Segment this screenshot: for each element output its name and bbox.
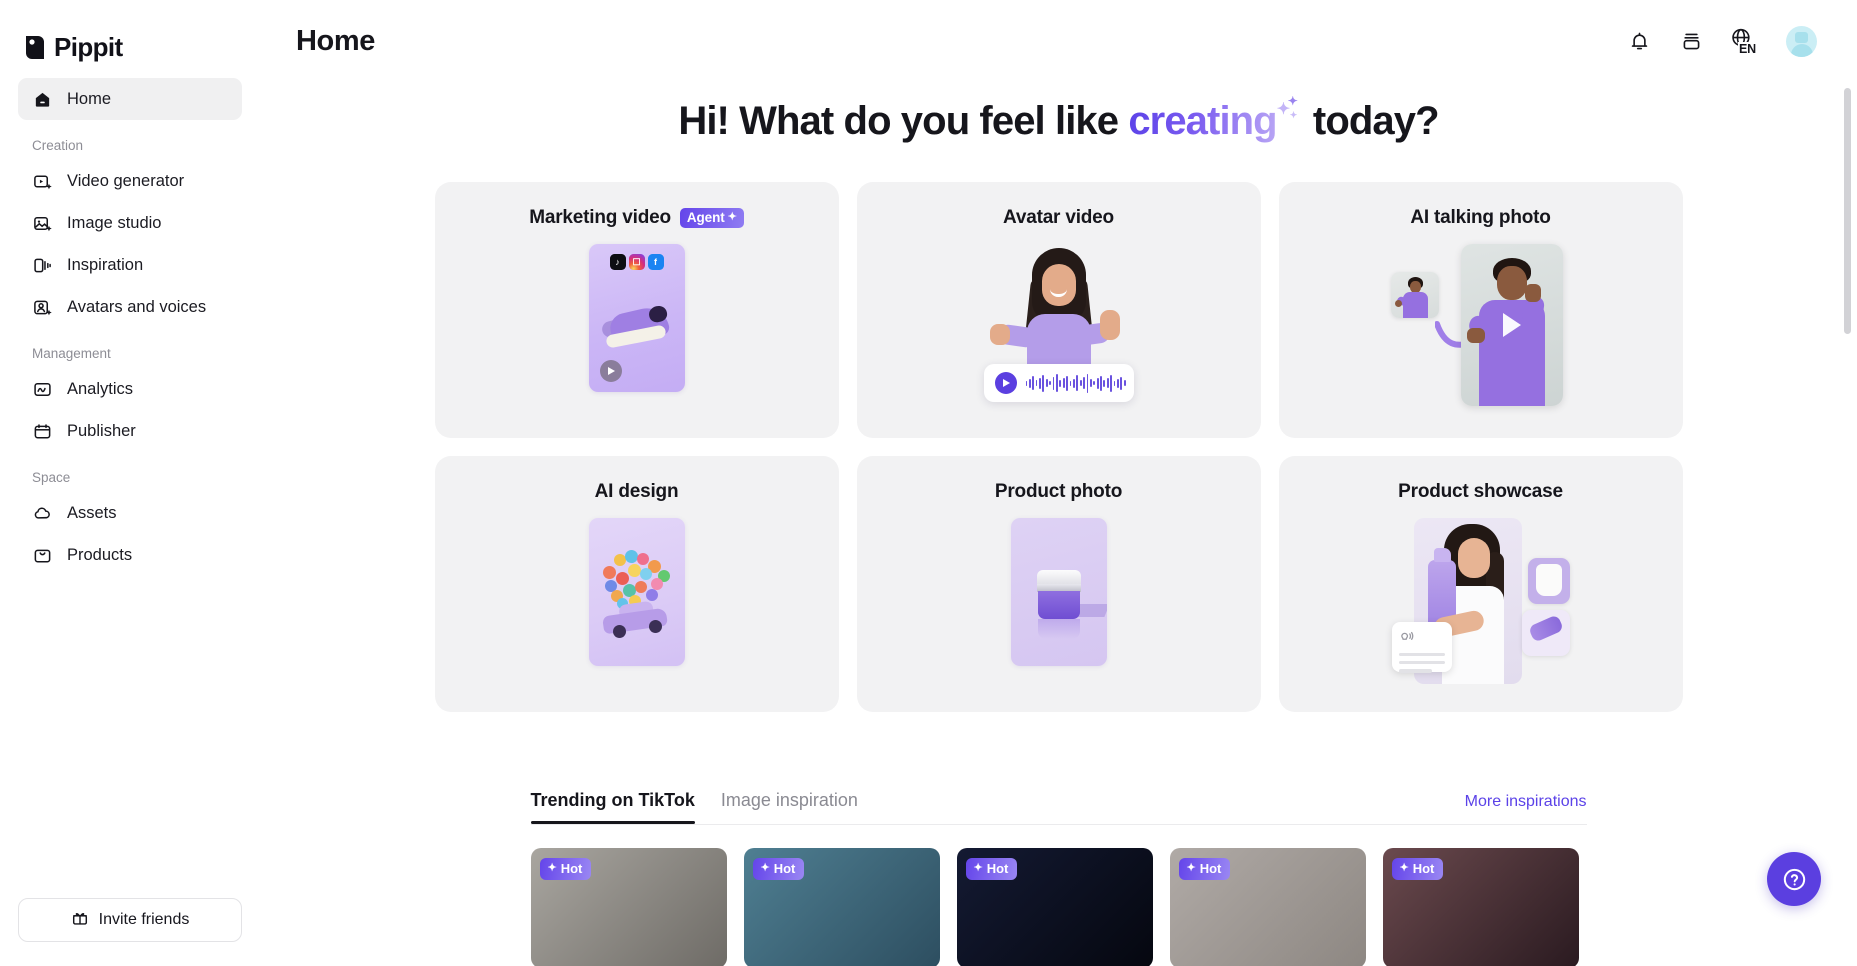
sidebar-item-label: Publisher	[67, 422, 136, 441]
car-illustration	[599, 598, 675, 640]
hero-highlight: creating	[1128, 99, 1276, 143]
hero-suffix: today?	[1303, 99, 1439, 143]
hot-badge: ✦Hot	[540, 858, 592, 880]
tab-image-inspiration[interactable]: Image inspiration	[721, 790, 858, 824]
card-title-row: Product photo	[857, 456, 1261, 503]
card-title-row: Marketing video Agent✦	[435, 182, 839, 229]
sidebar-section-management: Management	[18, 346, 242, 361]
sidebar-item-label: Home	[67, 90, 111, 109]
analytics-icon	[32, 379, 53, 400]
voice-icon	[1399, 630, 1414, 643]
sparkle-icon: ✦	[1400, 863, 1409, 874]
product-chip-bottle	[1522, 610, 1570, 656]
language-code: EN	[1738, 42, 1756, 56]
sidebar-item-label: Video generator	[67, 172, 184, 191]
inspiration-thumbnails: ✦Hot ✦Hot ✦Hot ✦Hot ✦Hot	[531, 848, 1587, 966]
sidebar-item-label: Image studio	[67, 214, 161, 233]
assets-cloud-icon	[32, 503, 53, 524]
sneaker-illustration	[602, 302, 674, 354]
card-thumbnail	[1279, 518, 1683, 702]
audio-player-bar	[984, 364, 1134, 402]
question-mark-icon	[1781, 866, 1808, 893]
hot-badge: ✦Hot	[1392, 858, 1444, 880]
card-avatar-video[interactable]: Avatar video	[857, 182, 1261, 438]
generated-video	[1461, 244, 1563, 406]
agent-badge-label: Agent	[687, 210, 725, 225]
card-thumbnail	[857, 518, 1261, 702]
card-product-showcase[interactable]: Product showcase	[1279, 456, 1683, 712]
avatar[interactable]	[1786, 26, 1817, 57]
avatars-voices-icon	[32, 297, 53, 318]
sidebar-item-avatars-and-voices[interactable]: Avatars and voices	[18, 286, 242, 328]
waveform	[1026, 373, 1126, 393]
language-selector[interactable]: EN	[1730, 27, 1760, 55]
script-card	[1392, 622, 1452, 672]
inspiration-thumbnail[interactable]: ✦Hot	[1170, 848, 1366, 966]
sidebar-footer: Invite friends	[0, 898, 260, 966]
avatar-head	[1795, 32, 1808, 43]
sidebar-item-video-generator[interactable]: Video generator	[18, 160, 242, 202]
top-bar: Home	[260, 0, 1857, 82]
hot-badge-label: Hot	[1200, 861, 1222, 876]
more-inspirations-link[interactable]: More inspirations	[1465, 793, 1587, 811]
brand-name: Pippit	[54, 32, 123, 63]
card-ai-design[interactable]: AI design	[435, 456, 839, 712]
top-bar-actions: EN	[1626, 26, 1817, 57]
product-showcase-thumbnail	[1392, 518, 1570, 684]
sparkle-icon: ✦	[761, 863, 770, 874]
avatar-body	[1791, 44, 1813, 57]
card-thumbnail: ♪ ☐ f	[435, 244, 839, 428]
sidebar-section-creation: Creation	[18, 138, 242, 153]
inspiration-tabs: Trending on TikTok Image inspiration Mor…	[531, 790, 1587, 824]
card-title: Product showcase	[1398, 481, 1563, 503]
card-title: AI design	[595, 481, 679, 503]
app-root: Pippit Home Creation	[0, 0, 1857, 966]
invite-friends-button[interactable]: Invite friends	[18, 898, 242, 942]
tab-trending-on-tiktok[interactable]: Trending on TikTok	[531, 790, 695, 824]
hot-badge-label: Hot	[774, 861, 796, 876]
card-title: Marketing video	[529, 207, 671, 229]
hot-badge: ✦Hot	[753, 858, 805, 880]
publisher-calendar-icon	[32, 421, 53, 442]
scrollbar[interactable]	[1845, 0, 1854, 966]
sparkle-icon: ✦	[548, 863, 557, 874]
social-icons-row: ♪ ☐ f	[610, 254, 664, 270]
card-title-row: Product showcase	[1279, 456, 1683, 503]
sidebar-item-assets[interactable]: Assets	[18, 492, 242, 534]
inbox-icon[interactable]	[1678, 28, 1704, 54]
card-thumbnail	[857, 244, 1261, 428]
inspiration-thumbnail[interactable]: ✦Hot	[957, 848, 1153, 966]
card-marketing-video[interactable]: Marketing video Agent✦ ♪ ☐ f	[435, 182, 839, 438]
sidebar-item-label: Avatars and voices	[67, 298, 206, 317]
help-button[interactable]	[1767, 852, 1821, 906]
play-icon	[995, 372, 1017, 394]
sidebar-item-label: Inspiration	[67, 256, 143, 275]
card-title-row: AI talking photo	[1279, 182, 1683, 229]
sparkle-icon: ✦	[1187, 863, 1196, 874]
card-title: AI talking photo	[1410, 207, 1550, 229]
main-area: Home	[260, 0, 1857, 966]
facebook-icon: f	[648, 254, 664, 270]
sparkle-icon: ✦✦✦	[1277, 96, 1303, 126]
sneaker-social-thumbnail: ♪ ☐ f	[589, 244, 685, 392]
hot-badge: ✦Hot	[1179, 858, 1231, 880]
card-title: Avatar video	[1003, 207, 1114, 229]
sidebar-item-products[interactable]: Products	[18, 534, 242, 576]
card-ai-talking-photo[interactable]: AI talking photo	[1279, 182, 1683, 438]
sidebar-item-label: Assets	[67, 504, 117, 523]
inspiration-icon	[32, 255, 53, 276]
card-thumbnail	[435, 518, 839, 702]
tiktok-icon: ♪	[610, 254, 626, 270]
inspiration-thumbnail[interactable]: ✦Hot	[531, 848, 727, 966]
hot-badge-label: Hot	[561, 861, 583, 876]
agent-badge: Agent✦	[680, 208, 744, 229]
product-chip-apparel	[1528, 558, 1570, 604]
sidebar-item-analytics[interactable]: Analytics	[18, 368, 242, 410]
sidebar-item-inspiration[interactable]: Inspiration	[18, 244, 242, 286]
image-studio-icon	[32, 213, 53, 234]
card-title-row: AI design	[435, 456, 839, 503]
video-generator-icon	[32, 171, 53, 192]
cream-jar-thumbnail	[1011, 518, 1107, 666]
sparkle-icon: ✦	[974, 863, 983, 874]
card-title-row: Avatar video	[857, 182, 1261, 229]
card-product-photo[interactable]: Product photo	[857, 456, 1261, 712]
inspiration-thumbnail[interactable]: ✦Hot	[744, 848, 940, 966]
home-icon	[32, 89, 53, 110]
hot-badge-label: Hot	[987, 861, 1009, 876]
brand-logo[interactable]: Pippit	[0, 0, 260, 68]
instagram-icon: ☐	[629, 254, 645, 270]
pippit-logo-icon	[24, 35, 45, 60]
sidebar-item-publisher[interactable]: Publisher	[18, 410, 242, 452]
hero-section: Hi! What do you feel like creating✦✦✦ to…	[260, 82, 1857, 146]
sidebar-item-home[interactable]: Home	[18, 78, 242, 120]
page-title: Home	[296, 25, 375, 58]
inspiration-thumbnail[interactable]: ✦Hot	[1383, 848, 1579, 966]
inspiration-section: Trending on TikTok Image inspiration Mor…	[531, 790, 1587, 824]
play-icon	[1503, 313, 1521, 337]
play-icon	[600, 360, 622, 382]
invite-friends-label: Invite friends	[99, 911, 190, 929]
sidebar-item-image-studio[interactable]: Image studio	[18, 202, 242, 244]
avatar-presenter-thumbnail	[984, 244, 1134, 404]
hero-prefix: Hi! What do you feel like	[678, 99, 1128, 143]
gift-icon	[71, 909, 89, 932]
source-photo	[1391, 272, 1439, 318]
hero-heading: Hi! What do you feel like creating✦✦✦ to…	[678, 96, 1438, 146]
sidebar-section-space: Space	[18, 470, 242, 485]
content-scroll-area: Hi! What do you feel like creating✦✦✦ to…	[260, 82, 1857, 966]
feature-card-grid: Marketing video Agent✦ ♪ ☐ f	[260, 182, 1857, 712]
balloon-car-thumbnail	[589, 518, 685, 666]
agent-sparkle-icon: ✦	[728, 212, 737, 223]
card-thumbnail	[1279, 244, 1683, 428]
card-title: Product photo	[995, 481, 1122, 503]
sidebar-item-label: Products	[67, 546, 132, 565]
bell-icon[interactable]	[1626, 28, 1652, 54]
scrollbar-thumb[interactable]	[1844, 88, 1851, 334]
sidebar: Pippit Home Creation	[0, 0, 260, 966]
sidebar-item-label: Analytics	[67, 380, 133, 399]
talking-photo-thumbnail	[1391, 244, 1571, 406]
sidebar-nav: Home Creation Video generator	[0, 78, 260, 576]
hot-badge: ✦Hot	[966, 858, 1018, 880]
products-bag-icon	[32, 545, 53, 566]
hot-badge-label: Hot	[1413, 861, 1435, 876]
presenter-illustration	[1020, 248, 1098, 380]
tabs-divider	[531, 824, 1587, 825]
